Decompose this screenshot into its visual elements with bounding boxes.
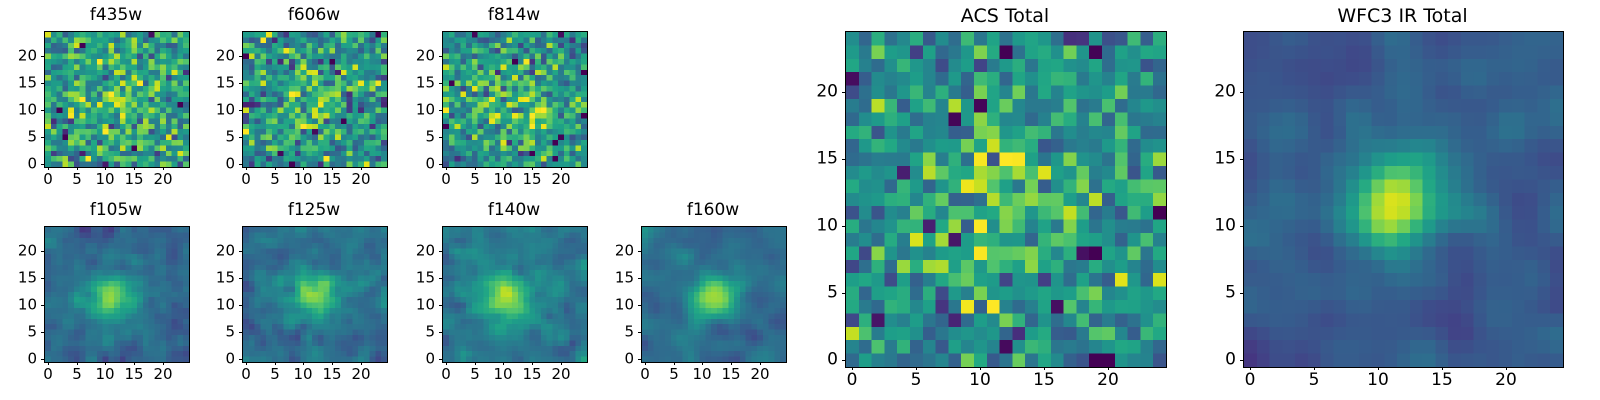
ytick-label-acs-total-4: 20 (805, 84, 838, 101)
ytick-label-f606w-2: 10 (202, 103, 235, 118)
ytick-mark-wfc3-ir-total-1 (1240, 293, 1243, 294)
xtick-label-f814w-2: 10 (493, 172, 512, 187)
xtick-label-f435w-2: 10 (95, 172, 114, 187)
ytick-mark-f606w-4 (239, 56, 242, 57)
ytick-mark-f435w-1 (41, 137, 44, 138)
panel-wfc3-ir-total: WFC3 IR Total0510152005101520 (1203, 5, 1562, 392)
axes-acs-total (845, 31, 1167, 368)
xtick-label-f105w-1: 5 (72, 367, 82, 382)
ytick-label-acs-total-0: 0 (805, 352, 838, 369)
xtick-label-f606w-3: 15 (322, 172, 341, 187)
xtick-label-acs-total-2: 10 (969, 372, 991, 389)
panel-f125w: f125w0510152005101520 (202, 200, 386, 387)
panel-title-f125w: f125w (242, 202, 386, 219)
panel-title-f160w: f160w (641, 202, 785, 219)
xtick-label-wfc3-ir-total-3: 15 (1431, 372, 1453, 389)
xtick-label-f435w-4: 20 (153, 172, 172, 187)
ytick-label-wfc3-ir-total-3: 15 (1203, 151, 1236, 168)
ytick-mark-wfc3-ir-total-4 (1240, 92, 1243, 93)
ytick-mark-f814w-1 (439, 137, 442, 138)
xtick-label-acs-total-3: 15 (1033, 372, 1055, 389)
ytick-mark-wfc3-ir-total-3 (1240, 159, 1243, 160)
ytick-mark-wfc3-ir-total-2 (1240, 226, 1243, 227)
xtick-label-f606w-1: 5 (270, 172, 280, 187)
xtick-label-f435w-0: 0 (43, 172, 53, 187)
ytick-mark-f105w-0 (41, 359, 44, 360)
ytick-label-f160w-0: 0 (601, 352, 634, 367)
ytick-mark-f125w-0 (239, 359, 242, 360)
ytick-mark-acs-total-3 (842, 159, 845, 160)
ytick-mark-f140w-0 (439, 359, 442, 360)
ytick-mark-f606w-1 (239, 137, 242, 138)
ytick-label-f814w-0: 0 (402, 157, 435, 172)
ytick-label-f814w-1: 5 (402, 130, 435, 145)
axes-f160w (641, 226, 787, 363)
panel-title-f435w: f435w (44, 7, 188, 24)
xtick-label-wfc3-ir-total-2: 10 (1367, 372, 1389, 389)
xtick-label-f606w-4: 20 (351, 172, 370, 187)
ytick-label-wfc3-ir-total-1: 5 (1203, 285, 1236, 302)
ytick-mark-f435w-4 (41, 56, 44, 57)
heatmap-image-f140w (443, 227, 587, 362)
xtick-label-f160w-3: 15 (721, 367, 740, 382)
heatmap-image-f606w (243, 32, 387, 167)
ytick-mark-f125w-4 (239, 251, 242, 252)
ytick-mark-f814w-2 (439, 110, 442, 111)
xtick-label-f105w-3: 15 (124, 367, 143, 382)
ytick-label-f140w-1: 5 (402, 325, 435, 340)
ytick-mark-acs-total-1 (842, 293, 845, 294)
ytick-label-f435w-3: 15 (4, 76, 37, 91)
xtick-label-wfc3-ir-total-1: 5 (1309, 372, 1320, 389)
figure-canvas: f435w0510152005101520f606w05101520051015… (0, 0, 1600, 400)
ytick-mark-acs-total-0 (842, 360, 845, 361)
xtick-label-acs-total-1: 5 (911, 372, 922, 389)
ytick-label-f606w-0: 0 (202, 157, 235, 172)
panel-title-f606w: f606w (242, 7, 386, 24)
ytick-mark-f125w-3 (239, 278, 242, 279)
axes-f435w (44, 31, 190, 168)
ytick-label-wfc3-ir-total-4: 20 (1203, 84, 1236, 101)
ytick-mark-f814w-3 (439, 83, 442, 84)
heatmap-image-acs-total (846, 32, 1166, 367)
xtick-label-f105w-0: 0 (43, 367, 53, 382)
ytick-label-f435w-4: 20 (4, 49, 37, 64)
ytick-label-f435w-1: 5 (4, 130, 37, 145)
ytick-label-f160w-4: 20 (601, 244, 634, 259)
ytick-mark-f606w-0 (239, 164, 242, 165)
ytick-mark-f105w-2 (41, 305, 44, 306)
ytick-label-f125w-4: 20 (202, 244, 235, 259)
ytick-mark-acs-total-2 (842, 226, 845, 227)
xtick-label-f105w-2: 10 (95, 367, 114, 382)
axes-f606w (242, 31, 388, 168)
xtick-label-f814w-4: 20 (551, 172, 570, 187)
xtick-label-wfc3-ir-total-4: 20 (1495, 372, 1517, 389)
ytick-label-f105w-1: 5 (4, 325, 37, 340)
ytick-label-acs-total-3: 15 (805, 151, 838, 168)
ytick-label-f606w-4: 20 (202, 49, 235, 64)
ytick-label-f814w-2: 10 (402, 103, 435, 118)
ytick-mark-f105w-4 (41, 251, 44, 252)
heatmap-image-f435w (45, 32, 189, 167)
heatmap-image-wfc3-ir-total (1244, 32, 1563, 367)
xtick-label-f814w-3: 15 (522, 172, 541, 187)
ytick-label-f160w-1: 5 (601, 325, 634, 340)
ytick-mark-f140w-2 (439, 305, 442, 306)
xtick-label-f140w-0: 0 (441, 367, 451, 382)
axes-f125w (242, 226, 388, 363)
ytick-label-f435w-0: 0 (4, 157, 37, 172)
xtick-label-f125w-2: 10 (293, 367, 312, 382)
ytick-label-wfc3-ir-total-2: 10 (1203, 218, 1236, 235)
axes-f105w (44, 226, 190, 363)
ytick-label-f125w-2: 10 (202, 298, 235, 313)
ytick-label-f140w-2: 10 (402, 298, 435, 313)
ytick-mark-f435w-2 (41, 110, 44, 111)
ytick-mark-f160w-3 (638, 278, 641, 279)
ytick-label-acs-total-1: 5 (805, 285, 838, 302)
ytick-label-f125w-0: 0 (202, 352, 235, 367)
ytick-mark-f160w-2 (638, 305, 641, 306)
ytick-label-f160w-3: 15 (601, 271, 634, 286)
xtick-label-f140w-1: 5 (470, 367, 480, 382)
xtick-label-f140w-4: 20 (551, 367, 570, 382)
ytick-label-f814w-3: 15 (402, 76, 435, 91)
ytick-mark-wfc3-ir-total-0 (1240, 360, 1243, 361)
ytick-mark-f435w-3 (41, 83, 44, 84)
ytick-label-f606w-1: 5 (202, 130, 235, 145)
xtick-label-f435w-3: 15 (124, 172, 143, 187)
panel-f140w: f140w0510152005101520 (402, 200, 586, 387)
ytick-mark-f140w-3 (439, 278, 442, 279)
xtick-label-f140w-3: 15 (522, 367, 541, 382)
xtick-label-f160w-2: 10 (692, 367, 711, 382)
ytick-mark-f606w-2 (239, 110, 242, 111)
heatmap-image-f814w (443, 32, 587, 167)
ytick-label-f105w-2: 10 (4, 298, 37, 313)
ytick-mark-f125w-2 (239, 305, 242, 306)
panel-f160w: f160w0510152005101520 (601, 200, 785, 387)
ytick-label-wfc3-ir-total-0: 0 (1203, 352, 1236, 369)
ytick-mark-f105w-3 (41, 278, 44, 279)
ytick-label-f105w-0: 0 (4, 352, 37, 367)
ytick-label-f140w-0: 0 (402, 352, 435, 367)
ytick-mark-f125w-1 (239, 332, 242, 333)
axes-f814w (442, 31, 588, 168)
ytick-mark-f105w-1 (41, 332, 44, 333)
xtick-label-wfc3-ir-total-0: 0 (1245, 372, 1256, 389)
panel-title-f105w: f105w (44, 202, 188, 219)
ytick-mark-f814w-4 (439, 56, 442, 57)
ytick-label-f435w-2: 10 (4, 103, 37, 118)
xtick-label-f125w-1: 5 (270, 367, 280, 382)
panel-acs-total: ACS Total0510152005101520 (805, 5, 1165, 392)
xtick-label-f606w-2: 10 (293, 172, 312, 187)
ytick-label-f105w-3: 15 (4, 271, 37, 286)
ytick-mark-f160w-4 (638, 251, 641, 252)
ytick-label-f606w-3: 15 (202, 76, 235, 91)
ytick-mark-f140w-1 (439, 332, 442, 333)
xtick-label-acs-total-4: 20 (1097, 372, 1119, 389)
panel-title-acs-total: ACS Total (845, 7, 1165, 26)
ytick-mark-f814w-0 (439, 164, 442, 165)
ytick-label-f125w-1: 5 (202, 325, 235, 340)
ytick-mark-acs-total-4 (842, 92, 845, 93)
ytick-label-f160w-2: 10 (601, 298, 634, 313)
ytick-label-f125w-3: 15 (202, 271, 235, 286)
ytick-mark-f160w-0 (638, 359, 641, 360)
panel-f105w: f105w0510152005101520 (4, 200, 188, 387)
ytick-mark-f140w-4 (439, 251, 442, 252)
heatmap-image-f125w (243, 227, 387, 362)
heatmap-image-f160w (642, 227, 786, 362)
xtick-label-f160w-4: 20 (750, 367, 769, 382)
xtick-label-f606w-0: 0 (241, 172, 251, 187)
xtick-label-f160w-0: 0 (640, 367, 650, 382)
ytick-mark-f435w-0 (41, 164, 44, 165)
xtick-label-f125w-4: 20 (351, 367, 370, 382)
panel-f435w: f435w0510152005101520 (4, 5, 188, 192)
ytick-mark-f160w-1 (638, 332, 641, 333)
heatmap-image-f105w (45, 227, 189, 362)
panel-f814w: f814w0510152005101520 (402, 5, 586, 192)
ytick-label-f140w-3: 15 (402, 271, 435, 286)
axes-wfc3-ir-total (1243, 31, 1564, 368)
xtick-label-f435w-1: 5 (72, 172, 82, 187)
xtick-label-f814w-1: 5 (470, 172, 480, 187)
ytick-label-f814w-4: 20 (402, 49, 435, 64)
panel-title-wfc3-ir-total: WFC3 IR Total (1243, 7, 1562, 26)
ytick-label-f140w-4: 20 (402, 244, 435, 259)
panel-title-f814w: f814w (442, 7, 586, 24)
xtick-label-f814w-0: 0 (441, 172, 451, 187)
ytick-label-f105w-4: 20 (4, 244, 37, 259)
xtick-label-acs-total-0: 0 (847, 372, 858, 389)
xtick-label-f140w-2: 10 (493, 367, 512, 382)
panel-f606w: f606w0510152005101520 (202, 5, 386, 192)
ytick-label-acs-total-2: 10 (805, 218, 838, 235)
panel-title-f140w: f140w (442, 202, 586, 219)
xtick-label-f105w-4: 20 (153, 367, 172, 382)
xtick-label-f125w-0: 0 (241, 367, 251, 382)
axes-f140w (442, 226, 588, 363)
ytick-mark-f606w-3 (239, 83, 242, 84)
xtick-label-f125w-3: 15 (322, 367, 341, 382)
xtick-label-f160w-1: 5 (669, 367, 679, 382)
